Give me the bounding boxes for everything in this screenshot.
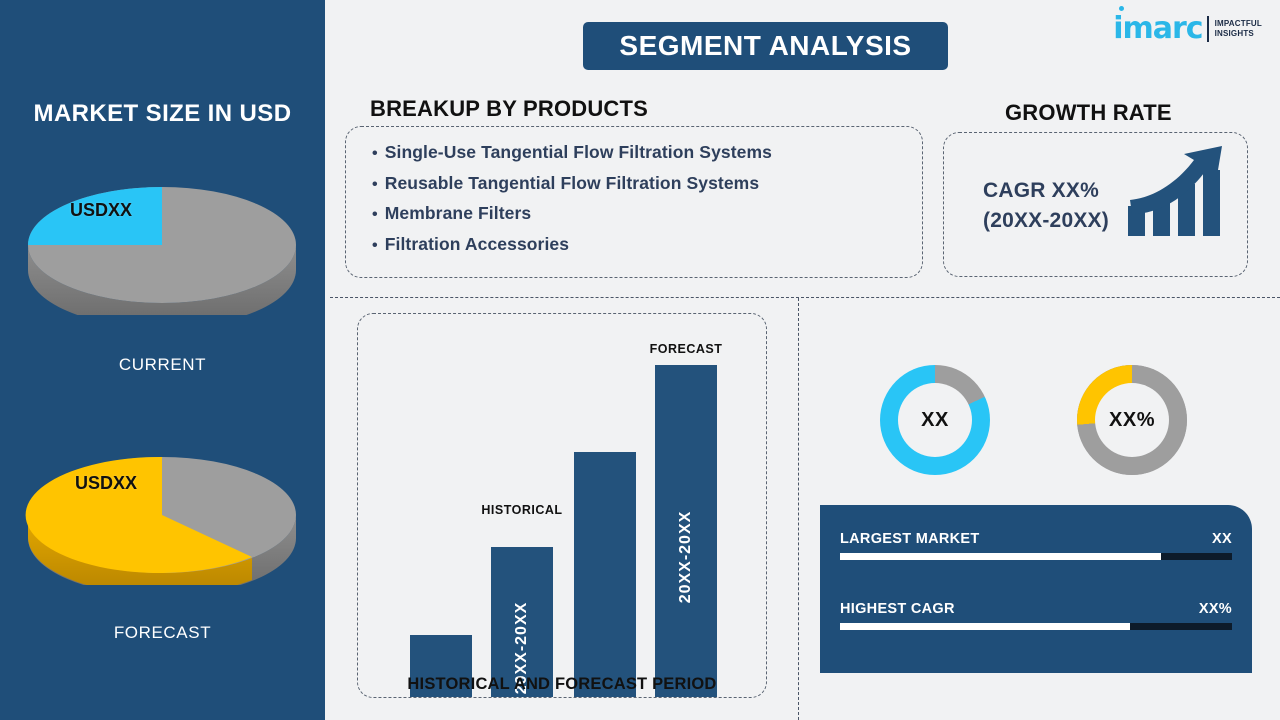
bar-4-period-label: 20XX-20XX bbox=[677, 511, 695, 604]
stat-largest-market-track bbox=[840, 553, 1232, 560]
imarc-tagline-line2: INSIGHTS bbox=[1215, 29, 1262, 39]
growth-rate-heading: GROWTH RATE bbox=[1005, 100, 1172, 126]
stat-highest-cagr: HIGHEST CAGR XX% bbox=[840, 601, 1232, 630]
imarc-logo-divider bbox=[1207, 16, 1209, 42]
forecast-pie-svg bbox=[20, 435, 305, 585]
stat-highest-cagr-fill bbox=[840, 623, 1130, 630]
highest-cagr-donut-value: XX% bbox=[1109, 409, 1155, 432]
imarc-logo: imarc IMPACTFUL INSIGHTS bbox=[1113, 14, 1262, 44]
bullet-icon: • bbox=[372, 232, 378, 261]
stat-largest-market-fill bbox=[840, 553, 1161, 560]
bar-4: 20XX-20XX bbox=[655, 365, 717, 697]
imarc-logo-tagline: IMPACTFUL INSIGHTS bbox=[1215, 19, 1262, 39]
stat-highest-cagr-value: XX% bbox=[1199, 601, 1232, 617]
list-item: • Membrane Filters bbox=[372, 199, 902, 230]
list-item-label: Membrane Filters bbox=[385, 199, 532, 228]
stat-largest-market-label: LARGEST MARKET bbox=[840, 531, 980, 547]
list-item: • Single-Use Tangential Flow Filtration … bbox=[372, 138, 902, 169]
current-pie-value: USDXX bbox=[70, 200, 132, 221]
cagr-value: CAGR XX% bbox=[983, 176, 1109, 206]
sidebar-title: MARKET SIZE IN USD bbox=[0, 100, 325, 128]
list-item-label: Single-Use Tangential Flow Filtration Sy… bbox=[385, 138, 772, 167]
page-title-pill: SEGMENT ANALYSIS bbox=[583, 22, 948, 70]
vertical-divider bbox=[798, 298, 799, 720]
largest-market-donut-hole: XX bbox=[898, 383, 972, 457]
key-stats-card: LARGEST MARKET XX HIGHEST CAGR XX% bbox=[820, 505, 1252, 673]
products-heading: BREAKUP BY PRODUCTS bbox=[370, 96, 648, 122]
stat-highest-cagr-track bbox=[840, 623, 1232, 630]
stat-largest-market-value: XX bbox=[1212, 531, 1232, 547]
forecast-pie-value: USDXX bbox=[75, 473, 137, 494]
horizontal-divider bbox=[330, 297, 1280, 298]
highest-cagr-donut-hole: XX% bbox=[1095, 383, 1169, 457]
list-item-label: Filtration Accessories bbox=[385, 230, 569, 259]
highest-cagr-donut: XX% bbox=[1077, 365, 1187, 475]
bullet-icon: • bbox=[372, 201, 378, 230]
bullet-icon: • bbox=[372, 171, 378, 200]
list-item: • Filtration Accessories bbox=[372, 230, 902, 261]
cagr-period: (20XX-20XX) bbox=[983, 206, 1109, 236]
imarc-logo-wordmark: imarc bbox=[1113, 14, 1202, 44]
page-title: SEGMENT ANALYSIS bbox=[619, 30, 911, 62]
forecast-pie-caption: FORECAST bbox=[20, 623, 305, 643]
growth-arrow-bars-icon bbox=[1124, 144, 1228, 240]
cagr-text: CAGR XX% (20XX-20XX) bbox=[983, 176, 1109, 236]
largest-market-donut: XX bbox=[880, 365, 990, 475]
bar-chart-panel: 20XX-20XX HISTORICAL 20XX-20XX FORECAST bbox=[357, 313, 767, 698]
imarc-tagline-line1: IMPACTFUL bbox=[1215, 19, 1262, 29]
bullet-icon: • bbox=[372, 140, 378, 169]
products-list: • Single-Use Tangential Flow Filtration … bbox=[372, 138, 902, 260]
segment-analysis-infographic: MARKET SIZE IN USD USDXX CURRENT bbox=[0, 0, 1280, 720]
current-pie-caption: CURRENT bbox=[20, 355, 305, 375]
bar-3 bbox=[574, 452, 636, 697]
forecast-annotation: FORECAST bbox=[641, 342, 731, 356]
stat-largest-market: LARGEST MARKET XX bbox=[840, 531, 1232, 560]
stat-highest-cagr-label: HIGHEST CAGR bbox=[840, 601, 955, 617]
current-pie-svg bbox=[20, 165, 305, 315]
bar-chart-axis-label: HISTORICAL AND FORECAST PERIOD bbox=[357, 675, 767, 694]
historical-annotation: HISTORICAL bbox=[472, 503, 572, 517]
list-item: • Reusable Tangential Flow Filtration Sy… bbox=[372, 169, 902, 200]
largest-market-donut-value: XX bbox=[921, 409, 949, 432]
list-item-label: Reusable Tangential Flow Filtration Syst… bbox=[385, 169, 759, 198]
market-size-sidebar: MARKET SIZE IN USD USDXX CURRENT bbox=[0, 0, 325, 720]
